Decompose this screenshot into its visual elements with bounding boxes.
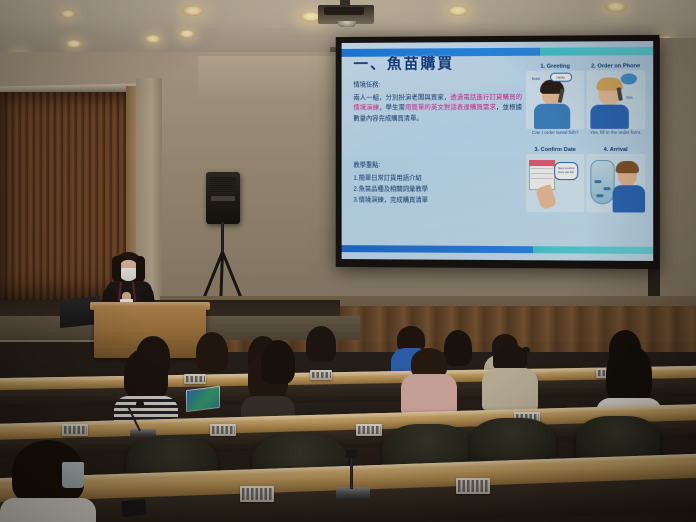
audience-person	[258, 340, 298, 400]
slide-teaching-points: 教學重點: 1.簡單日常訂貨用語介紹 2.魚苗品種及相關詞彙教學 3.情境演練，…	[353, 160, 522, 206]
speech-label-sure: Sure.	[623, 95, 637, 101]
illustration-number-4: 4.	[604, 147, 609, 153]
person-hair	[261, 340, 295, 384]
person-torso	[0, 498, 96, 522]
speech-label-boss: Boss!	[528, 75, 544, 82]
delegate-unit	[456, 478, 490, 494]
delegate-unit	[310, 370, 332, 380]
person-hair	[306, 326, 336, 362]
presenter-hair-right	[136, 256, 145, 282]
projector-vent	[324, 7, 364, 15]
pa-speaker	[206, 172, 240, 224]
illustration-cell-arrival: 4. Arrival	[586, 147, 645, 229]
desk-front-panel	[0, 378, 696, 408]
illustration-number-2: 2.	[591, 63, 596, 69]
audience-person	[306, 326, 336, 362]
projection-screen: 一、魚苗購買 情境任務: 兩人一組，分別扮演老闆與買家，透過電話進行訂貨購買的情…	[342, 41, 654, 261]
audience-person	[196, 332, 228, 372]
speaker-grille	[210, 177, 236, 193]
ceiling-projector	[318, 0, 374, 28]
person-hair	[616, 161, 639, 173]
fish-icon	[596, 194, 603, 197]
slide-highlight-d: 英文對話表達購買需求	[431, 104, 496, 111]
speech-bubble-confirm: Sent confirm form via 4/6.	[554, 162, 578, 180]
downlight-icon	[447, 6, 469, 16]
projector-lens	[338, 21, 356, 27]
laptop-screen	[187, 387, 219, 411]
delegate-unit	[184, 374, 206, 384]
downlight-icon	[179, 30, 195, 38]
person-torso	[401, 374, 457, 414]
downlight-icon	[66, 40, 82, 48]
slide-highlight-c: 用簡單的	[405, 104, 431, 111]
fish-icon	[594, 180, 601, 183]
illustration-subtitle-1: Can I order larval fish?	[526, 130, 584, 136]
presenter-hair-left	[112, 256, 121, 282]
slide-section1-label: 情境任務:	[353, 80, 522, 91]
desk-row-far	[0, 366, 696, 392]
phone-on-desk	[121, 499, 147, 517]
illustration-art-confirm: Sent confirm form via 4/6.	[526, 154, 584, 212]
conference-microphone	[130, 400, 156, 438]
slide-section2-label: 教學重點:	[353, 160, 522, 171]
illustration-cell-confirm: 3. Confirm Date Sent confirm form via 4/…	[526, 147, 584, 228]
audience-laptop	[186, 386, 220, 412]
speech-bubble-hello: Hello.	[550, 73, 572, 82]
slide-list-item-1: 1.簡單日常訂貨用語介紹	[353, 173, 522, 184]
mic-base	[336, 487, 370, 500]
illustration-art-arrival	[586, 154, 645, 213]
calendar-line	[531, 168, 553, 169]
downlight-icon	[605, 2, 627, 12]
drink-cup	[62, 462, 84, 488]
conference-microphone	[336, 452, 370, 500]
mic-stem	[128, 407, 141, 431]
slide-bottombar-blue	[342, 245, 534, 253]
illustration-caption-2: 2. Order on Phone	[586, 63, 645, 69]
person-hair	[196, 332, 228, 372]
audience-person-pink-hoodie	[404, 348, 454, 410]
delegate-unit	[240, 486, 274, 502]
slide-section1-text-a: 兩人一組，分別扮演老闆與買家，	[353, 94, 450, 101]
person-torso	[613, 185, 645, 212]
person-hair	[124, 348, 168, 400]
speech-bubble-phone	[621, 73, 637, 84]
person-hair	[606, 344, 652, 404]
illustration-label-1: Greeting	[547, 64, 570, 70]
lecture-hall-photo: 一、魚苗購買 情境任務: 兩人一組，分別扮演老闆與買家，透過電話進行訂貨購買的情…	[0, 0, 696, 522]
illustration-art-order: Sure.	[586, 70, 645, 129]
slide-topbar-teal	[540, 47, 653, 56]
illustration-label-3: Confirm Date	[541, 147, 576, 153]
slide-list-item-2: 2.魚苗品種及相關詞彙教學	[353, 184, 522, 195]
mic-capsule	[346, 449, 357, 458]
mic-stem	[350, 455, 353, 489]
presentation-slide: 一、魚苗購買 情境任務: 兩人一組，分別扮演老闆與買家，透過電話進行訂貨購買的情…	[342, 41, 654, 261]
slide-illustration-grid: 1. Greeting Hello. Boss! Can I order lar…	[526, 63, 645, 228]
calendar-header	[529, 160, 555, 166]
calendar-line	[531, 178, 553, 179]
delegate-unit	[210, 424, 236, 436]
illustration-cell-greeting: 1. Greeting Hello. Boss! Can I order lar…	[526, 64, 584, 145]
slide-body-paragraph: 情境任務: 兩人一組，分別扮演老闆與買家，透過電話進行訂貨購買的情境演練，學生需…	[353, 80, 522, 126]
audience-person	[486, 344, 534, 408]
mic-capsule	[136, 401, 144, 408]
person-torso	[534, 104, 570, 129]
illustration-caption-3: 3. Confirm Date	[526, 147, 584, 153]
delegate-unit	[356, 424, 382, 436]
illustration-caption-4: 4. Arrival	[586, 147, 645, 153]
downlight-icon	[182, 6, 204, 16]
person-torso	[482, 368, 538, 410]
slide-bottombar-teal	[533, 246, 653, 254]
illustration-number-3: 3.	[534, 147, 539, 153]
illustration-number-1: 1.	[540, 64, 545, 70]
illustration-cell-order: 2. Order on Phone Sure. Yes, fill in the…	[586, 63, 645, 145]
slide-highlight-a: 透過電話	[450, 94, 476, 101]
person-torso	[590, 105, 628, 129]
downlight-icon	[145, 35, 161, 43]
illustration-label-4: Arrival	[610, 147, 628, 153]
slide-title: 一、魚苗購買	[353, 52, 454, 73]
delegate-unit	[62, 424, 88, 436]
fish-icon	[604, 187, 611, 190]
downlight-icon	[60, 10, 76, 18]
illustration-label-2: Order on Phone	[597, 63, 640, 69]
calendar-line	[531, 173, 553, 174]
illustration-subtitle-2: Yes, fill in the order form.	[586, 130, 645, 136]
slide-list-item-3: 3.情境演練，完成購買清單	[353, 195, 522, 206]
illustration-art-greeting: Hello. Boss!	[526, 71, 584, 129]
projection-screen-frame: 一、魚苗購買 情境任務: 兩人一組，分別扮演老闆與買家，透過電話進行訂貨購買的情…	[336, 35, 660, 269]
slide-section1-text-b: ，學生需	[379, 104, 405, 111]
illustration-caption-1: 1. Greeting	[526, 64, 584, 70]
